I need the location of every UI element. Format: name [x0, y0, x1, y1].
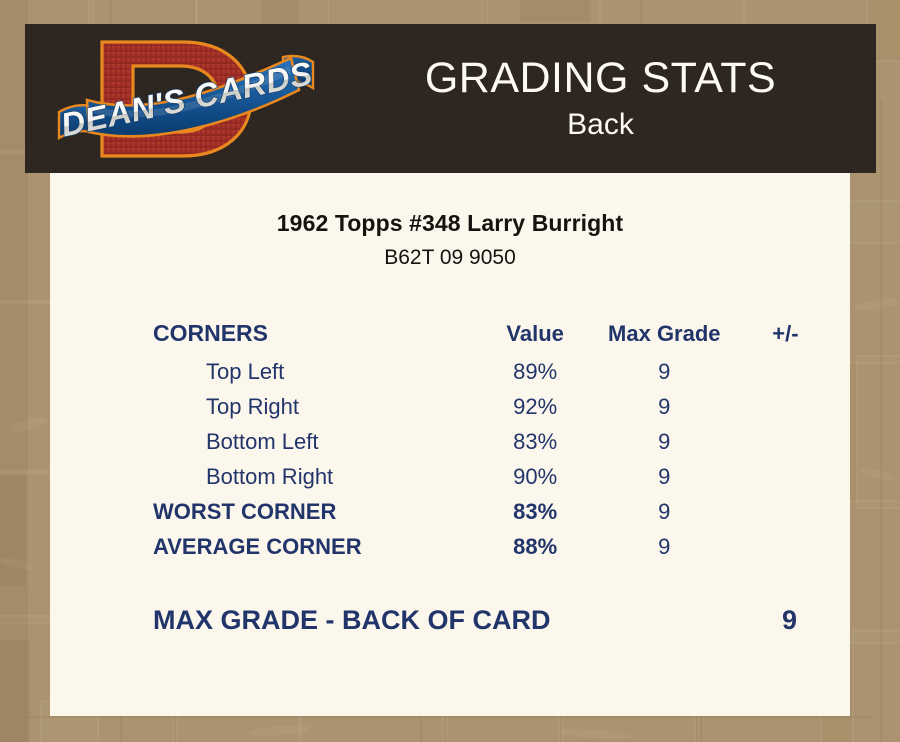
card-title: 1962 Topps #348 Larry Burright	[50, 210, 850, 237]
row-plus-minus	[738, 354, 833, 389]
row-max-grade: 9	[591, 459, 738, 494]
max-grade-label: MAX GRADE - BACK OF CARD	[153, 605, 551, 636]
page-subtitle: Back	[567, 109, 634, 141]
row-max-grade: 9	[591, 494, 738, 529]
row-plus-minus	[738, 424, 833, 459]
column-header-value: Value	[480, 313, 591, 354]
deans-cards-logo-svg: DEAN'S CARDS	[55, 28, 317, 170]
table-row: Top Right 92% 9	[153, 389, 833, 424]
row-value: 89%	[480, 354, 591, 389]
table-row-summary: WORST CORNER 83% 9	[153, 494, 833, 529]
row-plus-minus	[738, 494, 833, 529]
row-label: Top Right	[153, 389, 480, 424]
table-header-row: CORNERS Value Max Grade +/-	[153, 313, 833, 354]
row-label: AVERAGE CORNER	[153, 529, 480, 564]
header-title-block: GRADING STATS Back	[325, 24, 876, 173]
table-row: Bottom Left 83% 9	[153, 424, 833, 459]
header-bar: DEAN'S CARDS GRADING STATS Back	[25, 24, 876, 173]
grading-stats-table-body: CORNERS Value Max Grade +/- Top Left 89%…	[153, 313, 833, 564]
deans-cards-logo[interactable]: DEAN'S CARDS	[55, 28, 317, 170]
column-header-plus-minus: +/-	[738, 313, 833, 354]
row-label: WORST CORNER	[153, 494, 480, 529]
table-row: Top Left 89% 9	[153, 354, 833, 389]
row-plus-minus	[738, 389, 833, 424]
row-label: Bottom Right	[153, 459, 480, 494]
column-header-max-grade: Max Grade	[591, 313, 738, 354]
row-max-grade: 9	[591, 354, 738, 389]
row-label: Top Left	[153, 354, 480, 389]
row-value: 88%	[480, 529, 591, 564]
max-grade-value: 9	[782, 605, 797, 636]
table-row: Bottom Right 90% 9	[153, 459, 833, 494]
row-value: 92%	[480, 389, 591, 424]
row-max-grade: 9	[591, 389, 738, 424]
row-max-grade: 9	[591, 424, 738, 459]
max-grade-row: MAX GRADE - BACK OF CARD 9	[153, 605, 833, 636]
row-value: 83%	[480, 494, 591, 529]
page-title: GRADING STATS	[425, 56, 776, 101]
row-label: Bottom Left	[153, 424, 480, 459]
row-plus-minus	[738, 529, 833, 564]
row-plus-minus	[738, 459, 833, 494]
row-value: 90%	[480, 459, 591, 494]
column-header-corners: CORNERS	[153, 313, 480, 354]
grading-stats-table: CORNERS Value Max Grade +/- Top Left 89%…	[153, 313, 833, 564]
row-max-grade: 9	[591, 529, 738, 564]
content-panel: 1962 Topps #348 Larry Burright B62T 09 9…	[50, 173, 850, 716]
row-value: 83%	[480, 424, 591, 459]
card-serial-number: B62T 09 9050	[50, 246, 850, 270]
table-row-summary: AVERAGE CORNER 88% 9	[153, 529, 833, 564]
